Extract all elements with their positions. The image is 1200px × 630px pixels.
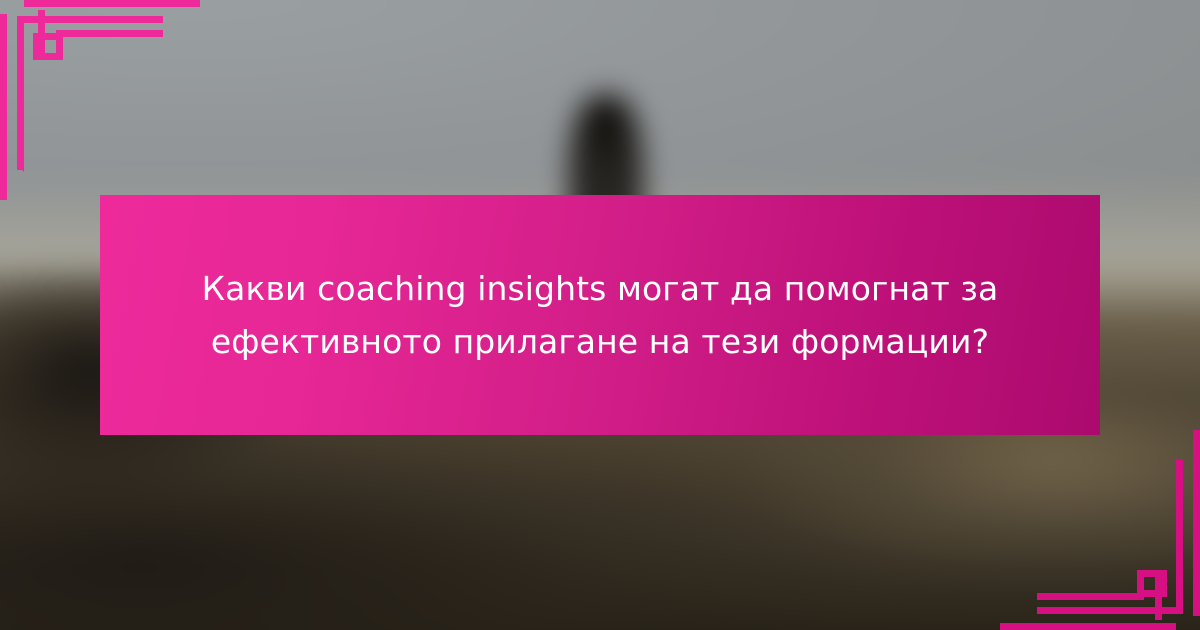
quote-banner: Какви coaching insights могат да помогна…	[100, 195, 1100, 435]
title-line-1: Какви coaching insights могат да помогна…	[202, 269, 999, 308]
page-title: Какви coaching insights могат да помогна…	[156, 262, 1044, 369]
quote-card: Какви coaching insights могат да помогна…	[0, 0, 1200, 630]
title-line-2: ефективното прилагане на тези формации?	[211, 322, 989, 361]
